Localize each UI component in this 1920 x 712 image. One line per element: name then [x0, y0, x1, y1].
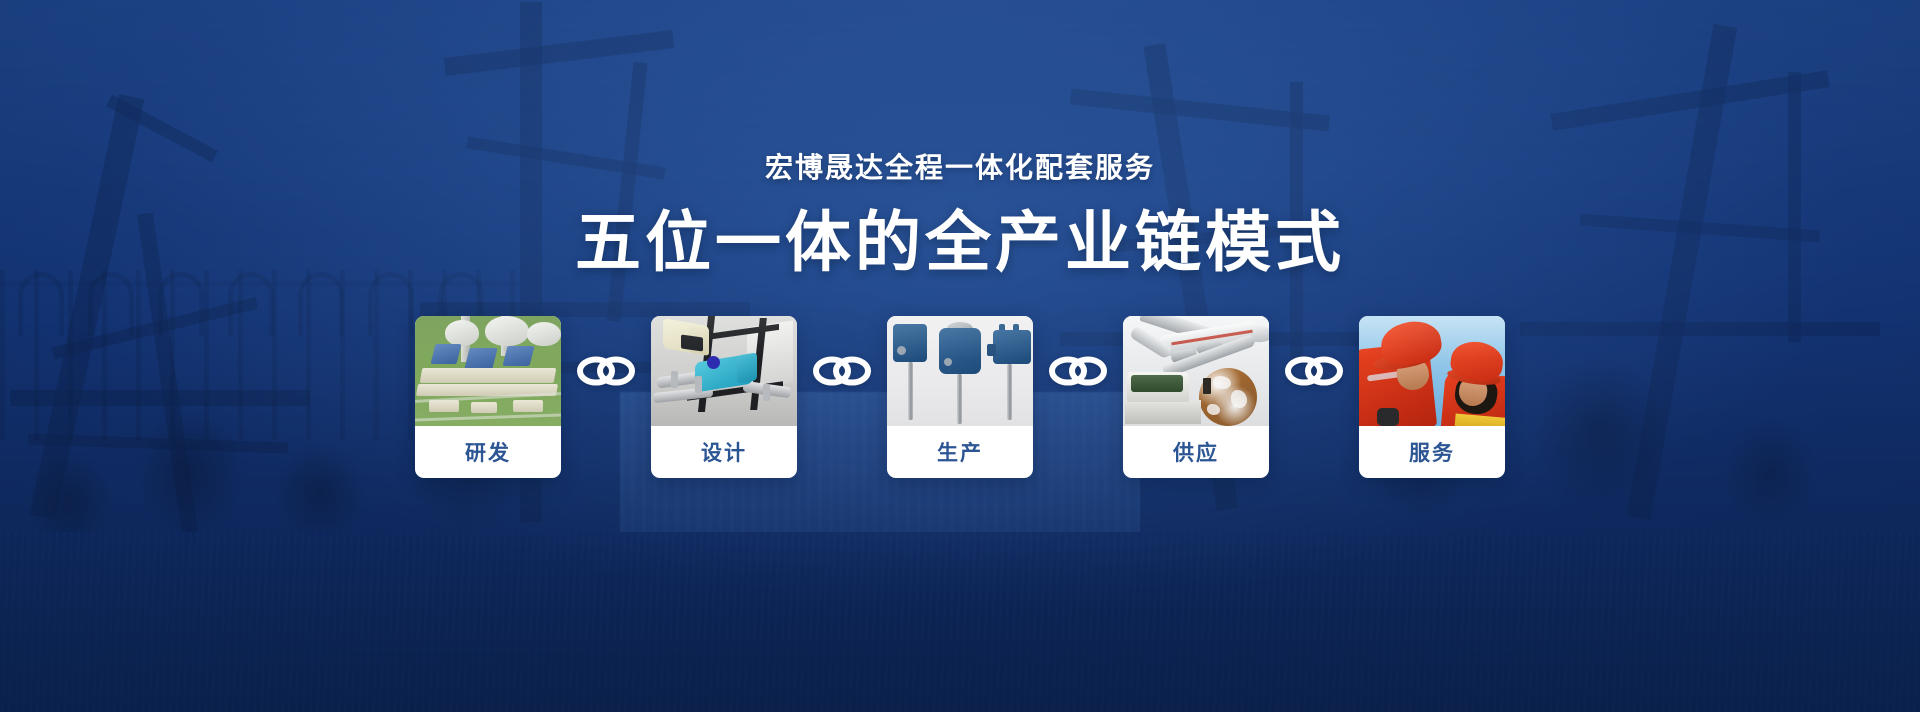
cad-pump-render-icon	[651, 316, 797, 426]
chain-step-card-2[interactable]: 设计	[651, 316, 797, 478]
level-switch-instruments-icon	[887, 316, 1033, 426]
chain-link-icon	[577, 354, 635, 388]
chain-step-label-4: 供应	[1123, 426, 1269, 478]
chain-step-label-2: 设计	[651, 426, 797, 478]
chain-step-label-5: 服务	[1359, 426, 1505, 478]
logistics-airplane-truck-globe-icon	[1123, 316, 1269, 426]
value-chain-row: 研发	[415, 316, 1505, 478]
chain-link-connector-3	[1033, 316, 1123, 426]
chain-step-image-4	[1123, 316, 1269, 426]
chain-link-icon	[1049, 354, 1107, 388]
chain-step-label-3: 生产	[887, 426, 1033, 478]
chain-step-image-5	[1359, 316, 1505, 426]
hero-banner: 宏博晟达全程一体化配套服务 五位一体的全产业链模式 研发	[0, 0, 1920, 712]
chain-link-icon	[1285, 354, 1343, 388]
banner-title: 五位一体的全产业链模式	[575, 208, 1345, 278]
field-workers-icon	[1359, 316, 1505, 426]
chain-step-card-4[interactable]: 供应	[1123, 316, 1269, 478]
banner-content: 宏博晟达全程一体化配套服务 五位一体的全产业链模式 研发	[0, 0, 1920, 712]
aerial-industrial-plant-icon	[415, 316, 561, 426]
banner-subtitle: 宏博晟达全程一体化配套服务	[765, 146, 1155, 186]
chain-step-image-1	[415, 316, 561, 426]
chain-step-image-3	[887, 316, 1033, 426]
chain-step-image-2	[651, 316, 797, 426]
chain-step-label-1: 研发	[415, 426, 561, 478]
chain-link-icon	[813, 354, 871, 388]
chain-link-connector-1	[561, 316, 651, 426]
chain-step-card-3[interactable]: 生产	[887, 316, 1033, 478]
chain-step-card-1[interactable]: 研发	[415, 316, 561, 478]
chain-link-connector-4	[1269, 316, 1359, 426]
chain-step-card-5[interactable]: 服务	[1359, 316, 1505, 478]
chain-link-connector-2	[797, 316, 887, 426]
